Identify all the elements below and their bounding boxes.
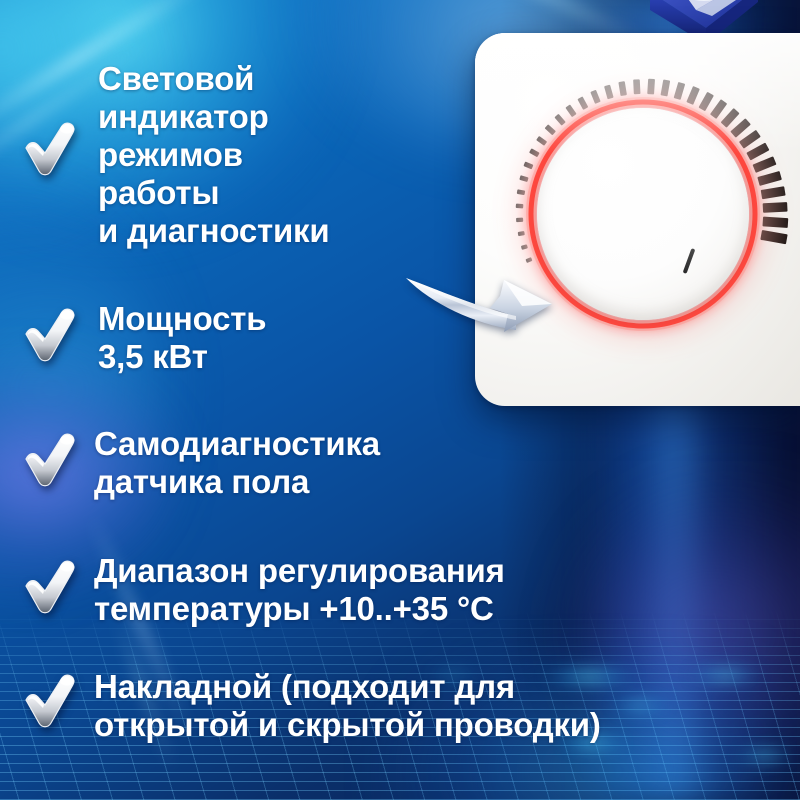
feature-text: Диапазон регулирования температуры +10..… bbox=[94, 552, 505, 628]
check-icon bbox=[22, 672, 78, 730]
check-icon bbox=[22, 120, 78, 178]
feature-text: Самодиагностика датчика пола bbox=[94, 425, 380, 501]
feature-list: Световой индикатор режимов работы и диаг… bbox=[0, 0, 800, 800]
check-icon bbox=[22, 431, 78, 489]
feature-item-light-indicator: Световой индикатор режимов работы и диаг… bbox=[22, 60, 329, 250]
check-icon bbox=[22, 558, 78, 616]
feature-item-temperature-range: Диапазон регулирования температуры +10..… bbox=[22, 552, 505, 628]
feature-text: Мощность 3,5 кВт bbox=[98, 300, 266, 376]
feature-item-power: Мощность 3,5 кВт bbox=[22, 300, 266, 376]
feature-item-surface-mounted: Накладной (подходит для открытой и скрыт… bbox=[22, 668, 601, 744]
check-icon bbox=[22, 306, 78, 364]
feature-text: Накладной (подходит для открытой и скрыт… bbox=[94, 668, 601, 744]
feature-item-floor-sensor-self-diagnostics: Самодиагностика датчика пола bbox=[22, 425, 380, 501]
banner-stage: Световой индикатор режимов работы и диаг… bbox=[0, 0, 800, 800]
feature-text: Световой индикатор режимов работы и диаг… bbox=[98, 60, 329, 250]
